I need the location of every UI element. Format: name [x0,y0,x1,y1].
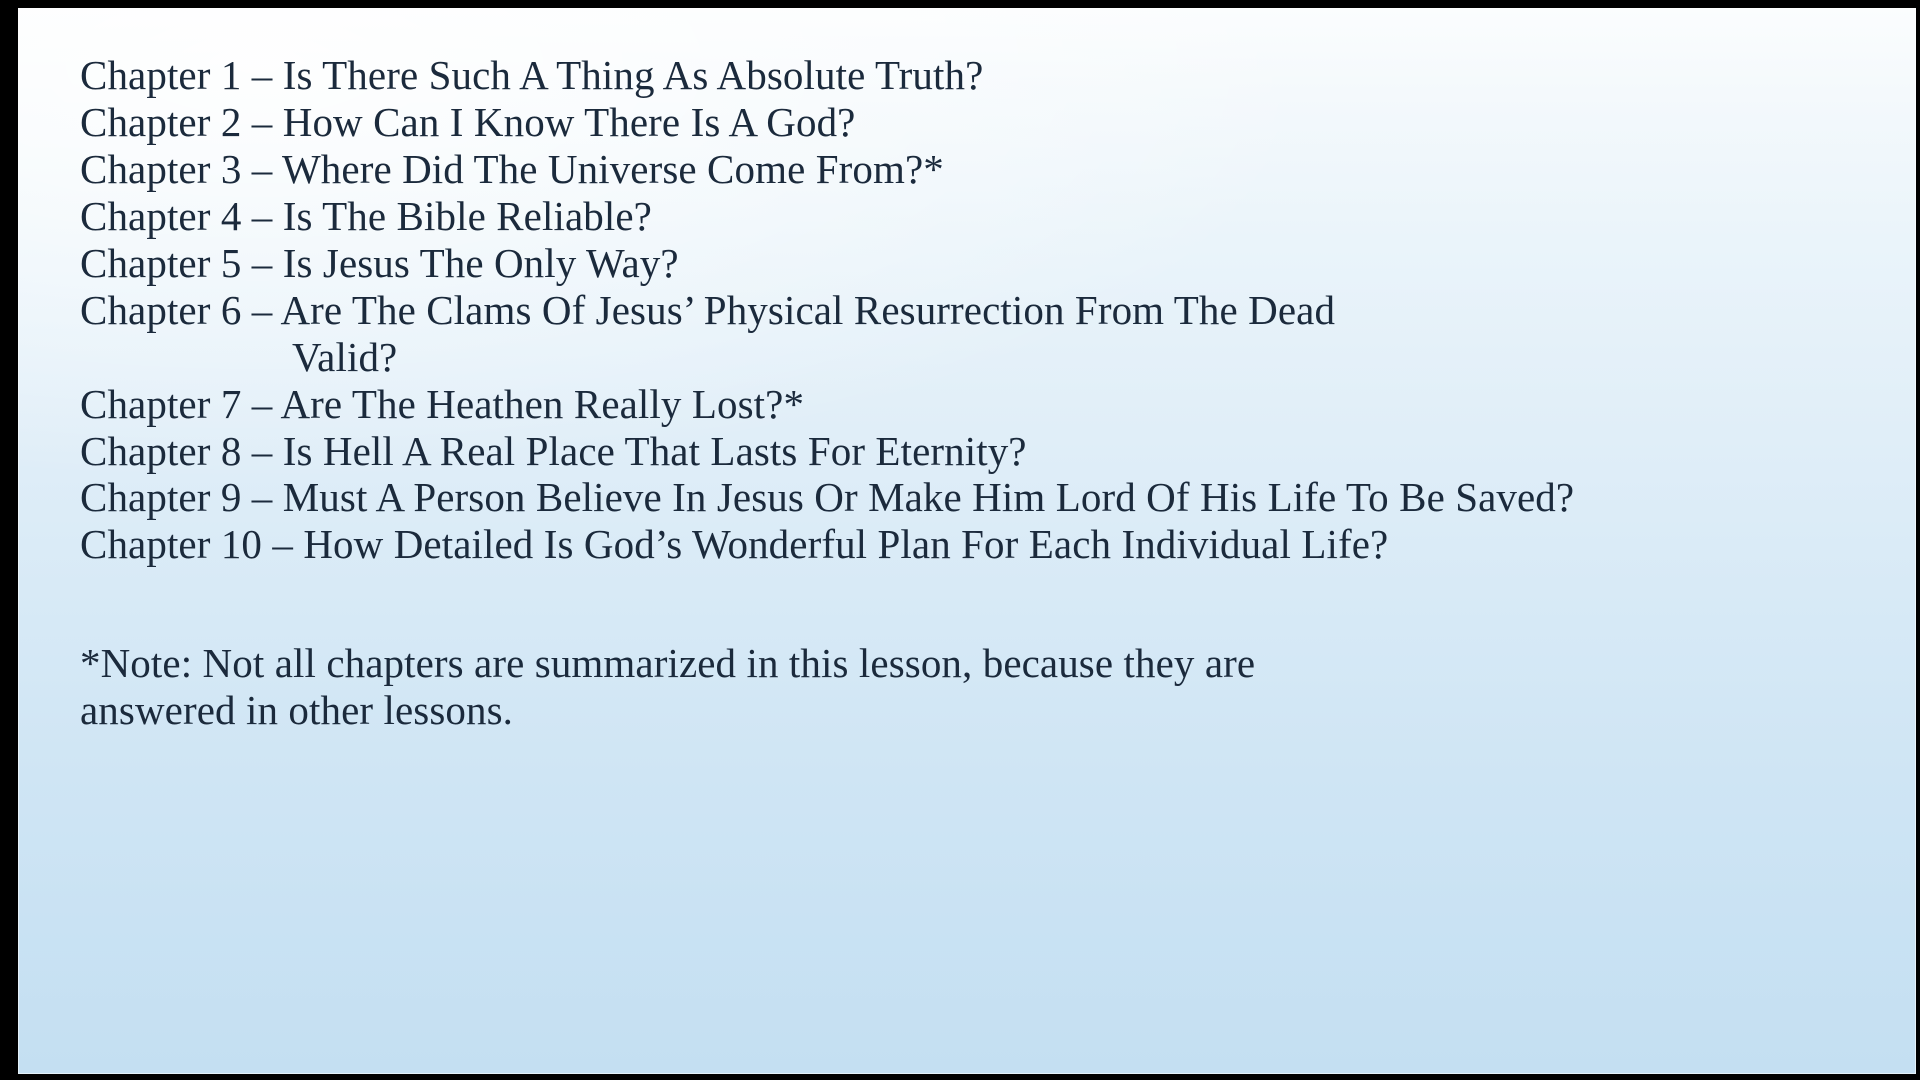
slide-content: Chapter 1 – Is There Such A Thing As Abs… [80,52,1876,734]
chapter-label-5: Chapter 5 – Is Jesus The Only Way? [80,240,679,286]
chapter-item-9: Chapter 9 – Must A Person Believe In Jes… [80,474,1800,521]
chapter-label-6-continuation: Valid? [80,334,1876,381]
footnote-block: *Note: Not all chapters are summarized i… [80,640,1680,734]
footnote-line-2: answered in other lessons. [80,687,1680,734]
chapter-label-7: Chapter 7 – Are The Heathen Really Lost?… [80,381,804,427]
chapter-label-3: Chapter 3 – Where Did The Universe Come … [80,146,944,192]
chapter-label-6: Chapter 6 – Are The Clams Of Jesus’ Phys… [80,287,1335,333]
slide-frame: Chapter 1 – Is There Such A Thing As Abs… [0,0,1920,1080]
chapter-item-2: Chapter 2 – How Can I Know There Is A Go… [80,99,1876,146]
chapter-item-4: Chapter 4 – Is The Bible Reliable? [80,193,1876,240]
chapter-label-9: Chapter 9 – Must A Person Believe In Jes… [80,474,1574,520]
footnote-line-1: *Note: Not all chapters are summarized i… [80,640,1680,687]
chapter-item-7: Chapter 7 – Are The Heathen Really Lost?… [80,381,1876,428]
chapter-label-8: Chapter 8 – Is Hell A Real Place That La… [80,428,1027,474]
chapter-item-10: Chapter 10 – How Detailed Is God’s Wonde… [80,521,1876,568]
chapter-item-8: Chapter 8 – Is Hell A Real Place That La… [80,428,1876,475]
chapter-label-10: Chapter 10 – How Detailed Is God’s Wonde… [80,521,1388,567]
chapter-item-1: Chapter 1 – Is There Such A Thing As Abs… [80,52,1876,99]
chapter-label-1: Chapter 1 – Is There Such A Thing As Abs… [80,52,983,98]
chapter-label-2: Chapter 2 – How Can I Know There Is A Go… [80,99,855,145]
chapter-label-4: Chapter 4 – Is The Bible Reliable? [80,193,652,239]
chapter-item-3: Chapter 3 – Where Did The Universe Come … [80,146,1876,193]
slide-canvas: Chapter 1 – Is There Such A Thing As Abs… [18,8,1916,1074]
chapter-item-5: Chapter 5 – Is Jesus The Only Way? [80,240,1876,287]
chapter-list: Chapter 1 – Is There Such A Thing As Abs… [80,52,1876,568]
chapter-item-6: Chapter 6 – Are The Clams Of Jesus’ Phys… [80,287,1876,381]
